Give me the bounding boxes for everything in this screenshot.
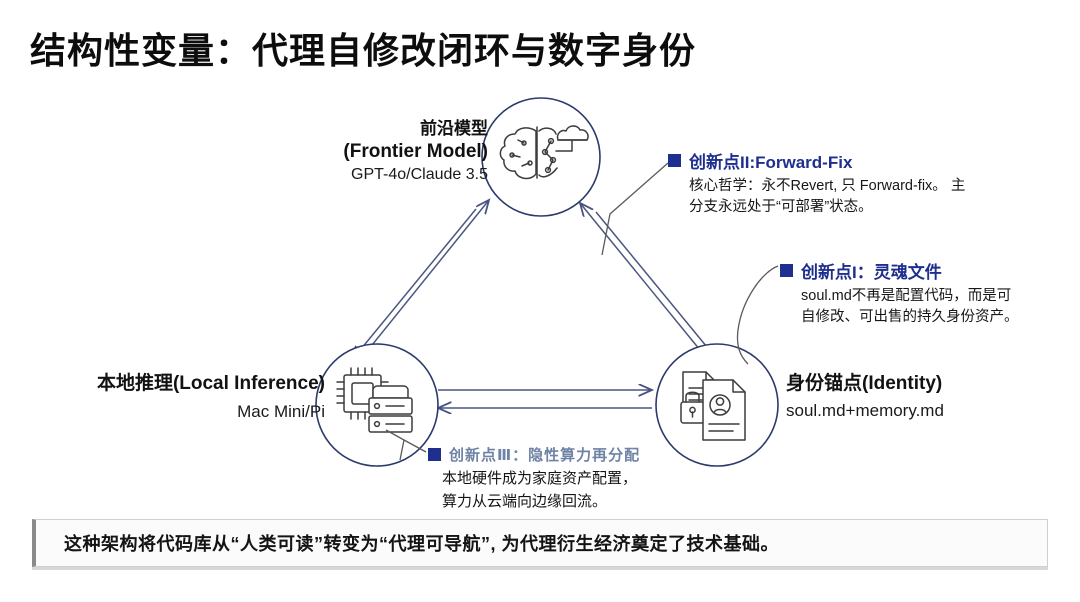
frontier-label-en: (Frontier Model)	[298, 140, 488, 164]
annotation-2-body-line: 分支永远处于“可部署”状态。	[689, 197, 998, 218]
annotation-1-body-line: soul.md不再是配置代码，而是可	[801, 286, 1080, 307]
edge-identity-to-frontier	[580, 203, 700, 350]
annotation-1-heading: 创新点I：灵魂文件	[780, 258, 1080, 283]
square-bullet-icon	[428, 448, 441, 461]
footer-banner: 这种架构将代码库从“人类可读”转变为“代理可导航”, 为代理衍生经济奠定了技术基…	[32, 519, 1048, 567]
annotation-2-body-line: 核心哲学：永不Revert, 只 Forward-fix。 主	[689, 176, 998, 197]
frontier-label-sub: GPT-4o/Claude 3.5	[298, 165, 488, 185]
annotation-1-body: soul.md不再是配置代码，而是可 自修改、可出售的持久身份资产。	[801, 286, 1080, 328]
annotation-2-title: 创新点II:Forward-Fix	[689, 148, 852, 173]
node-frontier-model[interactable]	[482, 98, 600, 216]
node-label-local-inference: 本地推理(Local Inference) Mac Mini/Pi	[40, 372, 325, 423]
identity-label-cn: 身份锚点(Identity)	[786, 372, 1046, 396]
edge-frontier-to-identity	[596, 212, 716, 358]
identity-label-sub: soul.md+memory.md	[786, 400, 1046, 422]
annotation-3-body-line: 本地硬件成为家庭资产配置，	[442, 468, 728, 491]
footer-text: 这种架构将代码库从“人类可读”转变为“代理可导航”, 为代理衍生经济奠定了技术基…	[36, 530, 779, 556]
node-label-frontier-model: 前沿模型 (Frontier Model) GPT-4o/Claude 3.5	[298, 118, 488, 186]
annotation-3-body: 本地硬件成为家庭资产配置， 算力从云端向边缘回流。	[442, 468, 728, 513]
node-local-inference[interactable]	[316, 344, 438, 466]
annotation-3-title: 创新点Ⅲ：隐性算力再分配	[449, 444, 640, 465]
edge-local-to-frontier	[368, 200, 489, 350]
square-bullet-icon	[668, 154, 681, 167]
node-label-identity-anchor: 身份锚点(Identity) soul.md+memory.md	[786, 372, 1046, 422]
annotation-3-body-line: 算力从云端向边缘回流。	[442, 491, 728, 514]
slide-canvas: 结构性变量：代理自修改闭环与数字身份	[0, 0, 1080, 602]
edge-frontier-to-local	[352, 209, 476, 360]
footer-shadow-bar	[32, 567, 1048, 570]
annotation-2-body: 核心哲学：永不Revert, 只 Forward-fix。 主 分支永远处于“可…	[689, 176, 998, 218]
annotation-innovation-2: 创新点II:Forward-Fix 核心哲学：永不Revert, 只 Forwa…	[668, 148, 998, 218]
annotation-innovation-3: 创新点Ⅲ：隐性算力再分配 本地硬件成为家庭资产配置， 算力从云端向边缘回流。	[428, 444, 728, 513]
annotation-innovation-1: 创新点I：灵魂文件 soul.md不再是配置代码，而是可 自修改、可出售的持久身…	[780, 258, 1080, 328]
frontier-label-cn: 前沿模型	[298, 118, 488, 140]
annotation-1-body-line: 自修改、可出售的持久身份资产。	[801, 307, 1080, 328]
annotation-1-title: 创新点I：灵魂文件	[801, 258, 942, 283]
annotation-2-heading: 创新点II:Forward-Fix	[668, 148, 998, 173]
local-label-cn: 本地推理(Local Inference)	[40, 372, 325, 396]
annotation-3-heading: 创新点Ⅲ：隐性算力再分配	[428, 444, 728, 465]
square-bullet-icon	[780, 264, 793, 277]
local-label-sub: Mac Mini/Pi	[40, 401, 325, 423]
